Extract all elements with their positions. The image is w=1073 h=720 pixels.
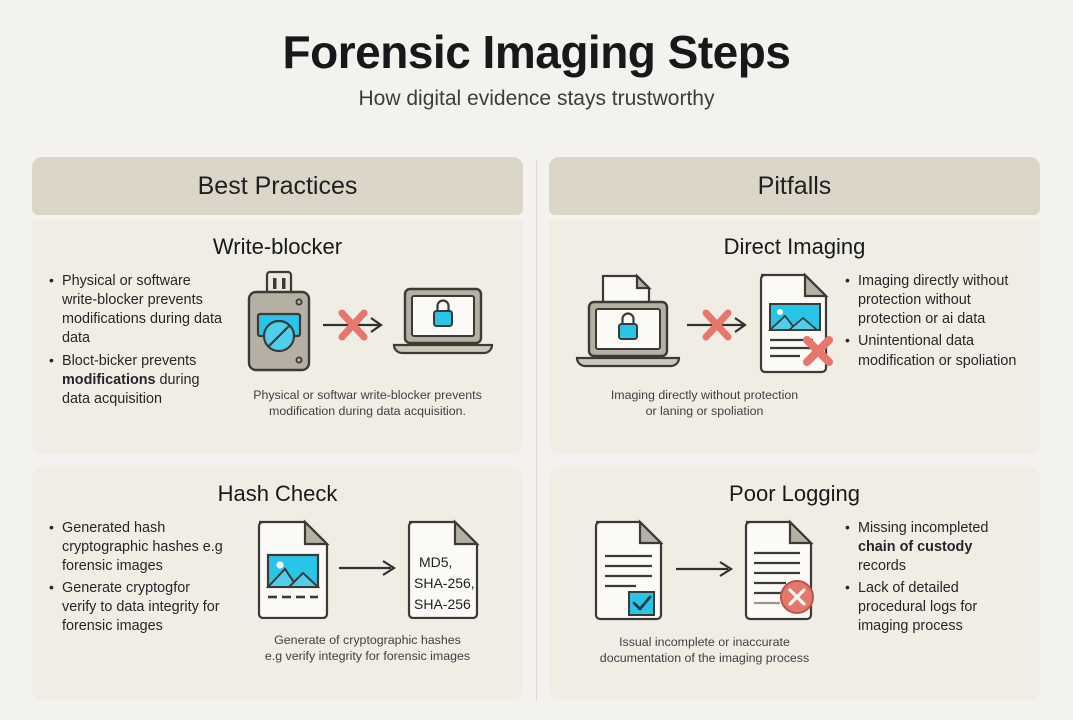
- card-hash-check: Hash Check Generated hash cryptographic …: [32, 467, 523, 701]
- figure-caption: Issual incomplete or inaccurate document…: [600, 634, 809, 666]
- card-write-blocker: Write-blocker Physical or software write…: [32, 220, 523, 454]
- card-poor-logging: Poor Logging Missing incompleted chain o…: [549, 467, 1040, 701]
- arrow-right-icon: [674, 556, 736, 587]
- red-x-over-arrow-icon: [685, 305, 751, 345]
- column-header-best-practices: Best Practices: [32, 157, 523, 215]
- caption-line: modification during data acquisition.: [253, 403, 482, 419]
- caption-line: Issual incomplete or inaccurate: [600, 634, 809, 650]
- list-item: Bloct-bicker prevents modifications duri…: [48, 352, 228, 409]
- bullet-text-emphasis: chain of custody: [858, 539, 972, 555]
- list-item: Generate cryptogfor verify to data integ…: [48, 579, 228, 636]
- caption-line: or laning or spoliation: [611, 403, 798, 419]
- card-body: Missing incompleted chain of custody rec…: [565, 517, 1024, 687]
- figure-row: MD5, SHA-256, SHA-256: [253, 517, 483, 624]
- document-with-red-x-icon: [740, 517, 820, 626]
- bullet-text: Physical or software write-blocker preve…: [62, 273, 222, 346]
- bullet-list-direct-imaging: Imaging directly without protection with…: [844, 270, 1024, 374]
- card-direct-imaging: Direct Imaging Imaging directly without …: [549, 220, 1040, 454]
- bullet-text: Generate cryptogfor verify to data integ…: [62, 580, 220, 634]
- list-item: Unintentional data modification or spoli…: [844, 332, 1024, 370]
- hash-line-3: SHA-256: [414, 596, 471, 612]
- figure-caption: Physical or softwar write-blocker preven…: [253, 387, 482, 419]
- column-header-label: Pitfalls: [758, 172, 832, 201]
- figure-row: [573, 270, 837, 379]
- columns-container: Best Practices Write-blocker Physical or…: [32, 157, 1041, 700]
- hash-line-1: MD5,: [419, 554, 452, 570]
- card-body: Imaging directly without protection with…: [565, 270, 1024, 440]
- figure-poor-logging: Issual incomplete or inaccurate document…: [565, 517, 844, 666]
- bullet-text: Missing incompleted: [858, 520, 988, 536]
- bullet-text: Bloct-bicker prevents: [62, 353, 196, 369]
- list-item: Physical or software write-blocker preve…: [48, 272, 228, 349]
- hash-document-icon: MD5, SHA-256, SHA-256: [403, 517, 483, 624]
- page-title: Forensic Imaging Steps: [0, 28, 1073, 78]
- card-body: Physical or software write-blocker preve…: [48, 270, 507, 440]
- caption-line: e.g verify integrity for forensic images: [265, 648, 470, 664]
- page-subtitle: How digital evidence stays trustworthy: [0, 87, 1073, 111]
- page-header: Forensic Imaging Steps How digital evide…: [0, 0, 1073, 111]
- hash-line-2: SHA-256,: [414, 575, 475, 591]
- list-item: Lack of detailed procedural logs for ima…: [844, 579, 1024, 636]
- column-header-label: Best Practices: [198, 172, 358, 201]
- card-title: Write-blocker: [48, 234, 507, 260]
- bullet-text: Generated hash cryptographic hashes e.g …: [62, 520, 223, 574]
- list-item: Generated hash cryptographic hashes e.g …: [48, 519, 228, 576]
- list-item: Missing incompleted chain of custody rec…: [844, 519, 1024, 576]
- card-title: Direct Imaging: [565, 234, 1024, 260]
- figure-caption: Generate of cryptographic hashes e.g ver…: [265, 632, 470, 664]
- usb-write-blocker-icon: [241, 270, 317, 379]
- document-with-check-icon: [590, 517, 670, 626]
- bullet-text: Lack of detailed procedural logs for ima…: [858, 580, 977, 634]
- laptop-with-lock-icon: [391, 283, 495, 366]
- card-title: Hash Check: [48, 481, 507, 507]
- figure-hash-check: MD5, SHA-256, SHA-256 Generate of crypto…: [228, 517, 507, 664]
- bullet-list-poor-logging: Missing incompleted chain of custody rec…: [844, 517, 1024, 640]
- list-item: Imaging directly without protection with…: [844, 272, 1024, 329]
- column-pitfalls: Pitfalls Direct Imaging Imaging directly…: [549, 157, 1040, 700]
- figure-direct-imaging: Imaging directly without protection or l…: [565, 270, 844, 419]
- figure-write-blocker: Physical or softwar write-blocker preven…: [228, 270, 507, 419]
- caption-line: Physical or softwar write-blocker preven…: [253, 387, 482, 403]
- bullet-text: Unintentional data modification or spoli…: [858, 333, 1016, 368]
- column-header-pitfalls: Pitfalls: [549, 157, 1040, 215]
- red-x-over-arrow-icon: [321, 305, 387, 345]
- card-title: Poor Logging: [565, 481, 1024, 507]
- laptop-with-lock-and-document-icon: [573, 270, 681, 379]
- card-body: Generated hash cryptographic hashes e.g …: [48, 517, 507, 687]
- bullet-list-hash-check: Generated hash cryptographic hashes e.g …: [48, 517, 228, 640]
- bullet-list-write-blocker: Physical or software write-blocker preve…: [48, 270, 228, 412]
- bullet-text: Imaging directly without protection with…: [858, 273, 1008, 327]
- column-best-practices: Best Practices Write-blocker Physical or…: [32, 157, 523, 700]
- figure-caption: Imaging directly without protection or l…: [611, 387, 798, 419]
- caption-line: documentation of the imaging process: [600, 650, 809, 666]
- bullet-text: records: [858, 558, 906, 574]
- infographic-page: Forensic Imaging Steps How digital evide…: [0, 0, 1073, 720]
- caption-line: Generate of cryptographic hashes: [265, 632, 470, 648]
- figure-row: [241, 270, 495, 379]
- bullet-text-emphasis: modifications: [62, 372, 156, 388]
- image-document-with-red-x-icon: [755, 270, 837, 379]
- image-document-icon: [253, 517, 333, 624]
- caption-line: Imaging directly without protection: [611, 387, 798, 403]
- arrow-right-icon: [337, 555, 399, 586]
- figure-row: [590, 517, 820, 626]
